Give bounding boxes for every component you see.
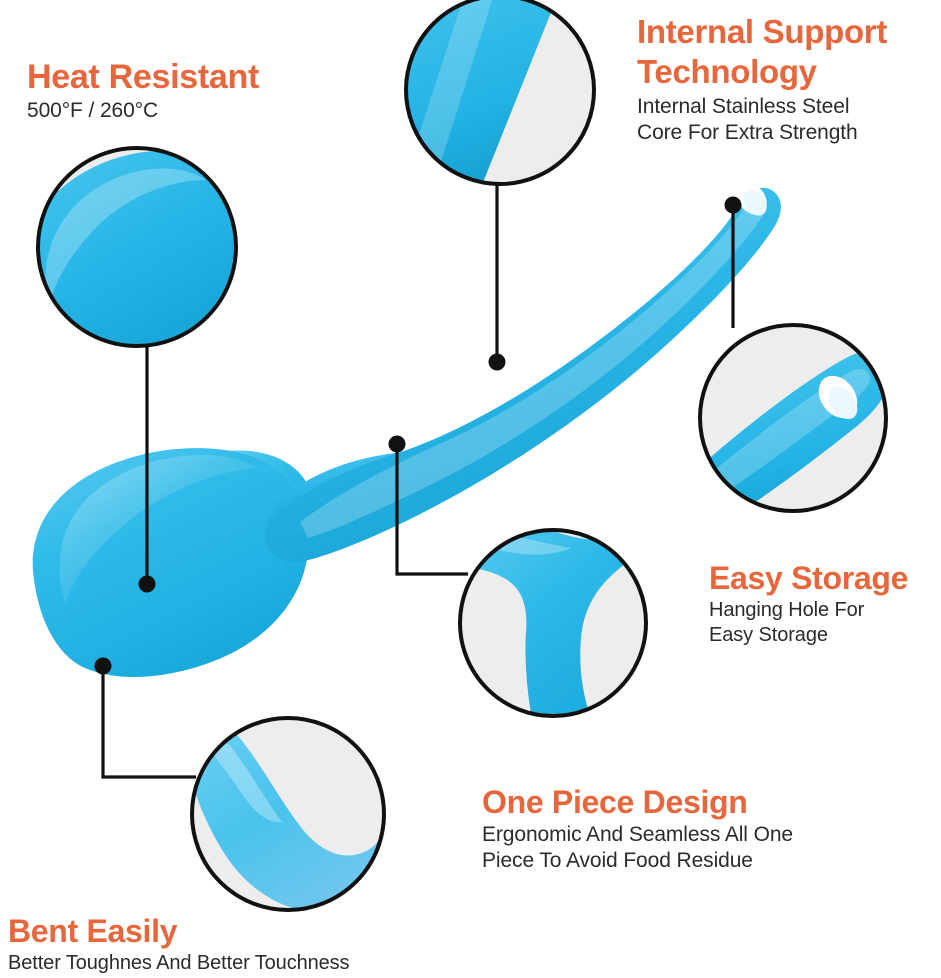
callout-desc-one-piece-design: Ergonomic And Seamless All One Piece To … bbox=[482, 822, 812, 874]
callout-title-internal-support: Internal Support Technology bbox=[637, 12, 937, 92]
leader-dot-easy-storage bbox=[725, 197, 742, 214]
zoom-circle-bent-easily bbox=[188, 718, 427, 912]
callout-title-heat-resistant: Heat Resistant bbox=[27, 58, 357, 96]
callout-easy-storage: Easy Storage Hanging Hole For Easy Stora… bbox=[709, 560, 941, 648]
callout-heat-resistant: Heat Resistant 500°F / 260°C bbox=[27, 58, 357, 124]
callout-title-one-piece-design: One Piece Design bbox=[482, 784, 812, 820]
callout-desc-heat-resistant: 500°F / 260°C bbox=[27, 98, 357, 124]
zoom-circle-heat-resistant bbox=[19, 148, 277, 361]
callout-desc-bent-easily: Better Toughnes And Better Touchness bbox=[8, 951, 428, 976]
callout-desc-internal-support: Internal Stainless Steel Core For Extra … bbox=[637, 94, 937, 146]
zoom-circle-one-piece bbox=[451, 520, 646, 740]
callout-one-piece-design: One Piece Design Ergonomic And Seamless … bbox=[482, 784, 812, 874]
zoom-circle-easy-storage bbox=[671, 325, 888, 537]
leader-line-bent-easily bbox=[103, 668, 196, 777]
leader-dot-one-piece bbox=[389, 436, 406, 453]
callout-title-bent-easily: Bent Easily bbox=[8, 913, 428, 949]
leader-dot-bent-easily bbox=[95, 658, 112, 675]
callout-bent-easily: Bent Easily Better Toughnes And Better T… bbox=[8, 913, 428, 976]
callout-internal-support: Internal Support Technology Internal Sta… bbox=[637, 12, 937, 146]
callout-title-easy-storage: Easy Storage bbox=[709, 560, 941, 596]
product-feature-infographic: Heat Resistant 500°F / 260°C Internal Su… bbox=[0, 0, 941, 978]
leader-dot-internal-support bbox=[489, 354, 506, 371]
zoom-circle-internal-support bbox=[360, 0, 594, 215]
callout-desc-easy-storage: Hanging Hole For Easy Storage bbox=[709, 598, 941, 648]
spatula-handle-highlight bbox=[300, 196, 767, 538]
leader-dot-heat-resistant bbox=[139, 576, 156, 593]
